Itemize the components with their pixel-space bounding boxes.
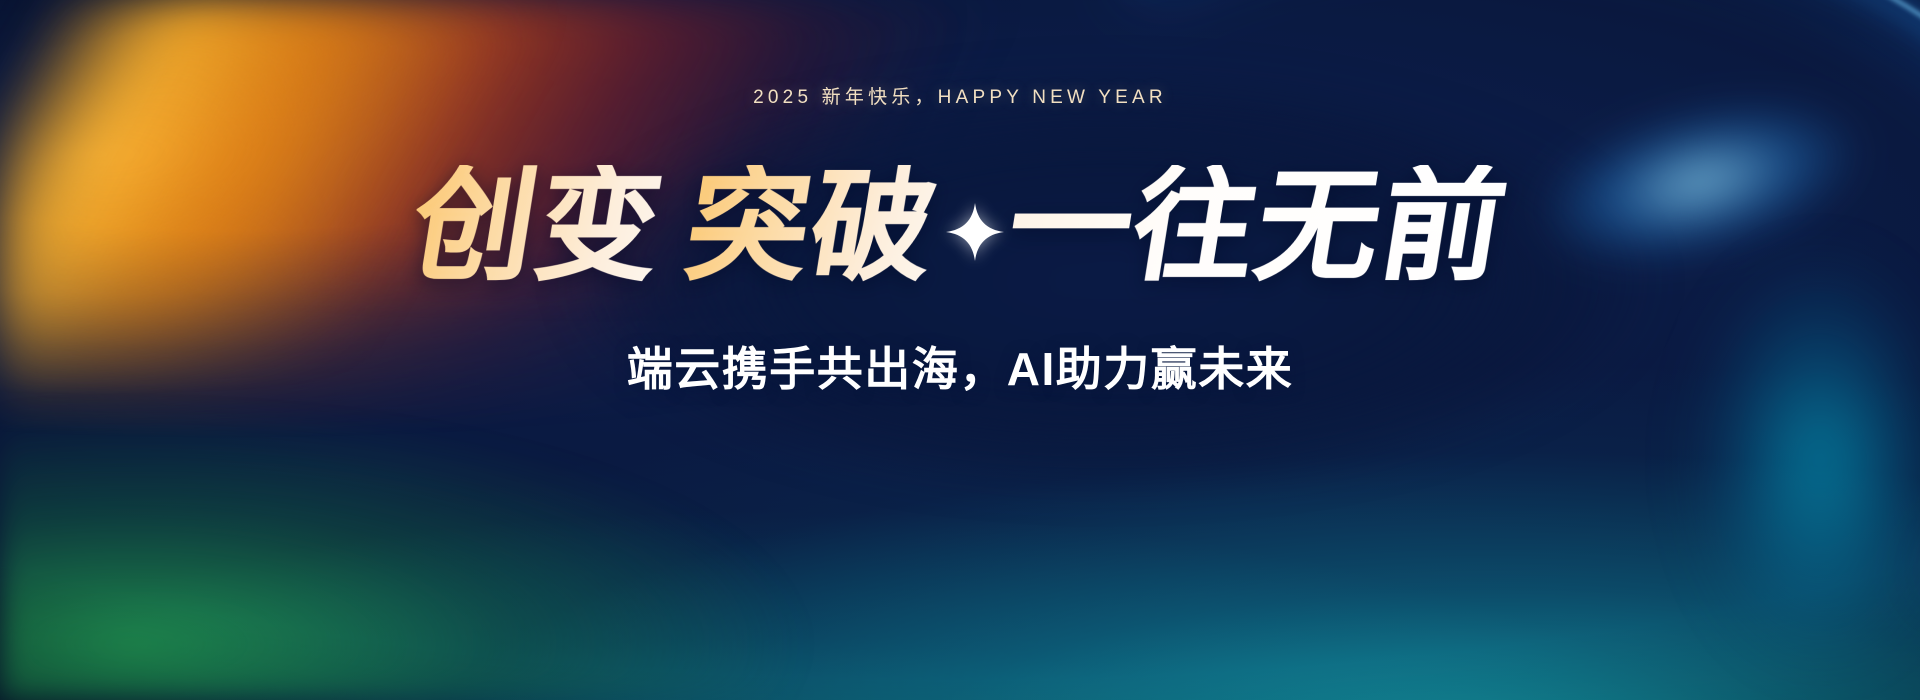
- four-point-sparkle-icon: [946, 203, 1004, 261]
- banner-eyebrow-text: 2025 新年快乐，HAPPY NEW YEAR: [753, 82, 1167, 109]
- banner-subtitle: 端云携手共出海，AI助力赢未来: [627, 333, 1294, 399]
- headline-segment-yiwangwuqian: 一往无前: [1000, 165, 1515, 287]
- headline-segment-chuangbian: 创变: [404, 165, 671, 287]
- new-year-promo-banner: 2025 新年快乐，HAPPY NEW YEAR 创变 突破 一往无前 端云携手…: [0, 0, 1920, 700]
- banner-content: 2025 新年快乐，HAPPY NEW YEAR 创变 突破 一往无前 端云携手…: [0, 0, 1920, 700]
- banner-headline: 创变 突破 一往无前: [414, 165, 1506, 287]
- headline-segment-tupo: 突破: [678, 165, 945, 287]
